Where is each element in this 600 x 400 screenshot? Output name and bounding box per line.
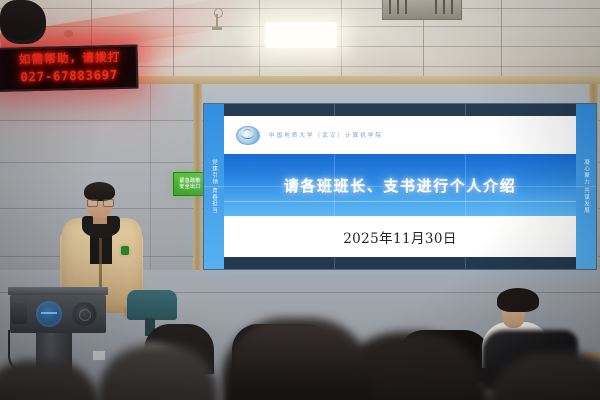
slide-org-name: 中国地质大学（武汉）计算机学院 bbox=[269, 131, 383, 139]
ceiling-hanger bbox=[216, 14, 218, 27]
led-video-wall: 党建引领 青春担当 凝心聚力 共谋发展 中国地质大学（武汉）计算机学院 请各班班… bbox=[203, 103, 597, 270]
left-banner-text: 党建引领 青春担当 bbox=[211, 159, 217, 214]
classroom-photo: 如需帮助，请拨打 027-67883697 紧急疏散 安全出口 党建引领 青春担… bbox=[0, 0, 600, 400]
right-banner-text: 凝心聚力 共谋发展 bbox=[583, 159, 589, 214]
emergency-exit-sign: 紧急疏散 安全出口 bbox=[173, 172, 207, 196]
help-hotline-led-sign: 如需帮助，请拨打 027-67883697 bbox=[0, 44, 138, 92]
led-sign-line-1: 如需帮助，请拨打 bbox=[0, 47, 136, 67]
air-vent-icon bbox=[382, 0, 462, 20]
slide-title: 请各班班长、支书进行个人介绍 bbox=[284, 175, 516, 196]
slide-date-area: 2025年11月30日 bbox=[224, 216, 576, 257]
smoke-detector-icon bbox=[64, 30, 73, 36]
slide-date: 2025年11月30日 bbox=[343, 227, 457, 247]
university-roundel-icon bbox=[36, 301, 62, 327]
slide-header: 中国地质大学（武汉）计算机学院 bbox=[224, 116, 576, 154]
eyeglasses-icon bbox=[87, 199, 112, 205]
wall-socket-icon bbox=[92, 350, 106, 361]
presenter-badge bbox=[121, 246, 129, 255]
right-vertical-banner: 凝心聚力 共谋发展 bbox=[576, 104, 596, 269]
lectern-desktop bbox=[8, 287, 108, 295]
presentation-slide: 中国地质大学（武汉）计算机学院 请各班班长、支书进行个人介绍 2025年11月3… bbox=[224, 116, 576, 257]
left-vertical-banner: 党建引领 青春担当 bbox=[204, 104, 224, 269]
slide-title-band: 请各班班长、支书进行个人介绍 bbox=[224, 154, 576, 216]
lectern-front-panel bbox=[10, 295, 106, 333]
lectern-side-speaker bbox=[11, 303, 27, 324]
teal-chair bbox=[127, 290, 177, 320]
loudspeaker-icon bbox=[72, 302, 97, 327]
exit-sign-line-2: 安全出口 bbox=[179, 185, 200, 190]
exit-sign-line-1: 紧急疏散 bbox=[179, 179, 200, 184]
ceiling-light-panel bbox=[265, 22, 337, 48]
university-emblem-icon bbox=[236, 126, 260, 145]
